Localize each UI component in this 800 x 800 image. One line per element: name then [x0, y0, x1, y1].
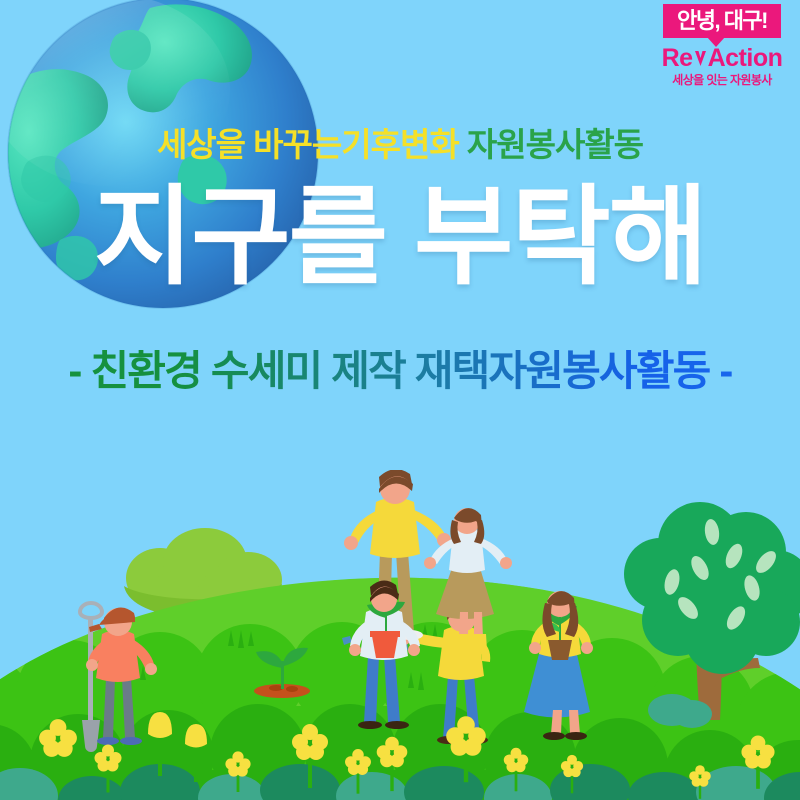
kicker-yellow-text: 세상을 바꾸는기후변화: [157, 126, 459, 163]
poster-canvas: 안녕, 대구! ReAction 세상을 잇는 자원봉사 세상을 바꾸는기후변화…: [0, 0, 800, 800]
checkmark-icon: [694, 49, 707, 68]
speech-bubble-shape: 안녕, 대구!: [663, 4, 781, 38]
reaction-brand-logo[interactable]: 안녕, 대구! ReAction 세상을 잇는 자원봉사: [652, 4, 792, 86]
page-title: 지구를 부탁해: [0, 178, 800, 297]
hill-scene-illustration: [0, 470, 800, 800]
poster-subtitle: - 친환경 수세미 제작 재택자원봉사활동 -: [0, 350, 800, 392]
logo-brand-prefix: Re: [662, 44, 693, 72]
logo-brand-suffix: Action: [708, 44, 783, 72]
logo-tagline: 세상을 잇는 자원봉사: [652, 74, 792, 86]
kicker-green-text: 자원봉사활동: [459, 126, 643, 163]
headline-kicker: 세상을 바꾸는기후변화 자원봉사활동: [0, 128, 800, 161]
logo-greeting-text: 안녕, 대구!: [671, 9, 773, 32]
logo-brand-name: ReAction: [652, 46, 792, 71]
